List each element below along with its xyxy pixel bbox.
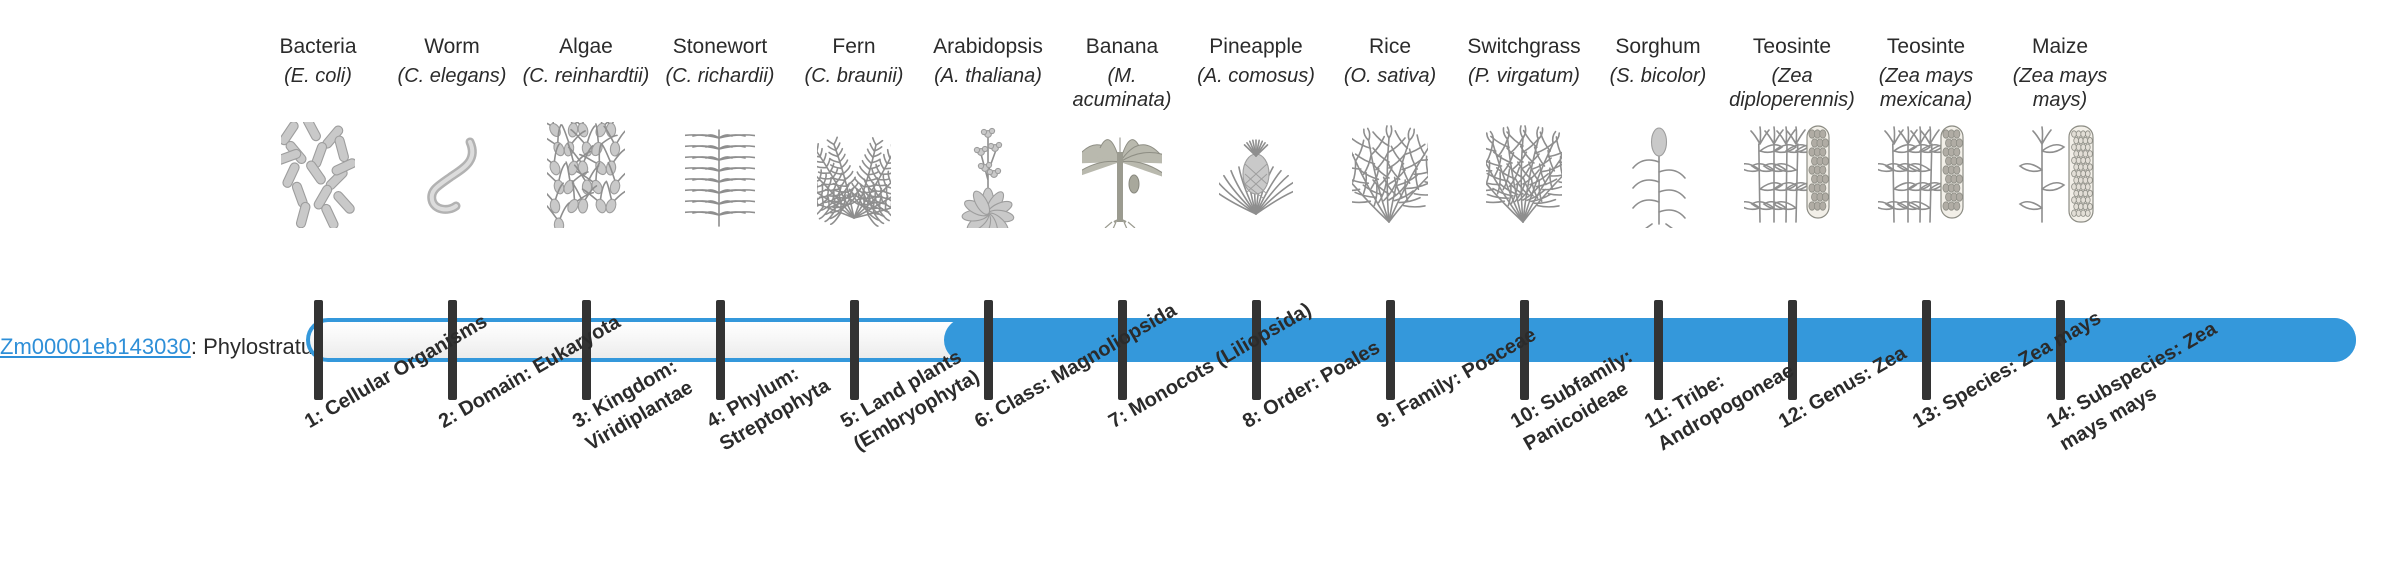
species-column: Pineapple(A. comosus) [1189,34,1323,228]
species-column: Rice(O. sativa) [1323,34,1457,228]
species-latin-name: (C. braunii) [787,64,921,114]
species-illustration-fern-icon [787,120,921,228]
species-column: Arabidopsis(A. thaliana) [921,34,1055,228]
rank-number: 9: [1373,405,1399,433]
rank-number: 6: [971,405,997,433]
species-latin-name: (A. thaliana) [921,64,1055,114]
species-common-name: Rice [1323,34,1457,60]
species-latin-name: (P. virgatum) [1457,64,1591,114]
species-illustration-sorghum-icon [1591,120,1725,228]
species-latin-name: (Zea mays mexicana) [1859,64,1993,114]
species-illustration-worm-icon [385,120,519,228]
species-column: Stonewort(C. richardii) [653,34,787,228]
species-common-name: Bacteria [251,34,385,60]
species-column: Bacteria(E. coli) [251,34,385,228]
species-illustration-rice-icon [1323,120,1457,228]
species-illustration-teosinte-icon [1725,120,1859,228]
rank-number: 2: [435,405,461,433]
species-column: Banana(M. acuminata) [1055,34,1189,228]
species-illustration-bacteria-icon [251,120,385,228]
species-latin-name: (E. coli) [251,64,385,114]
species-common-name: Switchgrass [1457,34,1591,60]
rank-number: 5: [837,405,863,433]
rank-number: 3: [569,405,595,433]
species-common-name: Arabidopsis [921,34,1055,60]
species-column: Sorghum(S. bicolor) [1591,34,1725,228]
gene-label-separator: : [191,334,203,359]
species-common-name: Algae [519,34,653,60]
species-illustration-stonewort-icon [653,120,787,228]
species-column: Fern(C. braunii) [787,34,921,228]
gene-id-link[interactable]: Zm00001eb143030 [0,334,191,359]
species-latin-name: (C. elegans) [385,64,519,114]
phylostratigraphy-figure: Zm00001eb143030: Phylostratum 6 Bacteria… [0,0,2400,580]
species-common-name: Fern [787,34,921,60]
species-illustration-maize-icon [1993,120,2127,228]
species-illustration-banana-icon [1055,120,1189,228]
species-common-name: Worm [385,34,519,60]
rank-number: 7: [1105,405,1131,433]
species-column: Switchgrass(P. virgatum) [1457,34,1591,228]
rank-number: 8: [1239,405,1265,433]
rank-number: 13: [1909,399,1945,433]
species-latin-name: (S. bicolor) [1591,64,1725,114]
rank-number: 4: [703,405,729,433]
species-column: Maize(Zea mays mays) [1993,34,2127,228]
species-latin-name: (C. reinhardtii) [519,64,653,114]
species-column: Teosinte(Zea mays mexicana) [1859,34,1993,228]
species-column: Algae(C. reinhardtii) [519,34,653,228]
species-column: Worm(C. elegans) [385,34,519,228]
species-common-name: Pineapple [1189,34,1323,60]
species-latin-name: (Zea mays mays) [1993,64,2127,114]
species-latin-name: (A. comosus) [1189,64,1323,114]
timeline-tick [314,300,323,400]
taxonomic-rank-labels: 1: Cellular Organisms2: Domain: Eukaryot… [306,404,2370,580]
species-common-name: Sorghum [1591,34,1725,60]
species-column: Teosinte(Zea diploperennis) [1725,34,1859,228]
species-latin-name: (Zea diploperennis) [1725,64,1859,114]
rank-number: 12: [1775,399,1811,433]
species-common-name: Teosinte [1859,34,1993,60]
species-illustration-algae-icon [519,120,653,228]
species-illustration-teosinte-icon [1859,120,1993,228]
species-common-name: Stonewort [653,34,787,60]
gene-phylostratum-label: Zm00001eb143030: Phylostratum 6 [0,334,290,360]
species-common-name: Maize [1993,34,2127,60]
rank-number: 1: [301,405,327,433]
species-illustration-pineapple-icon [1189,120,1323,228]
species-illustration-switchgrass-icon [1457,120,1591,228]
species-common-name: Banana [1055,34,1189,60]
species-latin-name: (M. acuminata) [1055,64,1189,114]
species-header-row: Bacteria(E. coli)Worm(C. elegans)Algae(C… [306,34,2370,304]
species-latin-name: (C. richardii) [653,64,787,114]
species-latin-name: (O. sativa) [1323,64,1457,114]
species-common-name: Teosinte [1725,34,1859,60]
species-illustration-arabidopsis-icon [921,120,1055,228]
